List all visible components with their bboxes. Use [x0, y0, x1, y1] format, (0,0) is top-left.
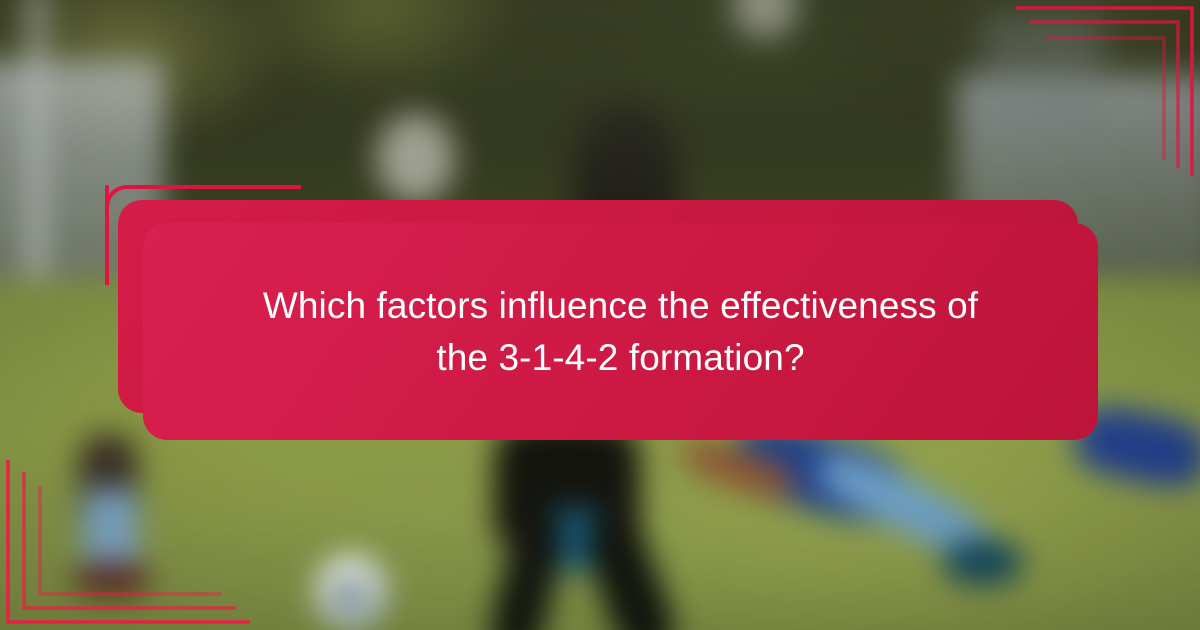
headline-text: Which factors influence the effectivenes…: [143, 280, 1098, 384]
headline-card: Which factors influence the effectivenes…: [0, 0, 1200, 630]
promo-card-canvas: Which factors influence the effectivenes…: [0, 0, 1200, 630]
headline-line-1: Which factors influence the effectivenes…: [183, 280, 1058, 332]
headline-line-2: the 3-1-4-2 formation?: [183, 332, 1058, 384]
card-front-slab: Which factors influence the effectivenes…: [143, 223, 1098, 440]
